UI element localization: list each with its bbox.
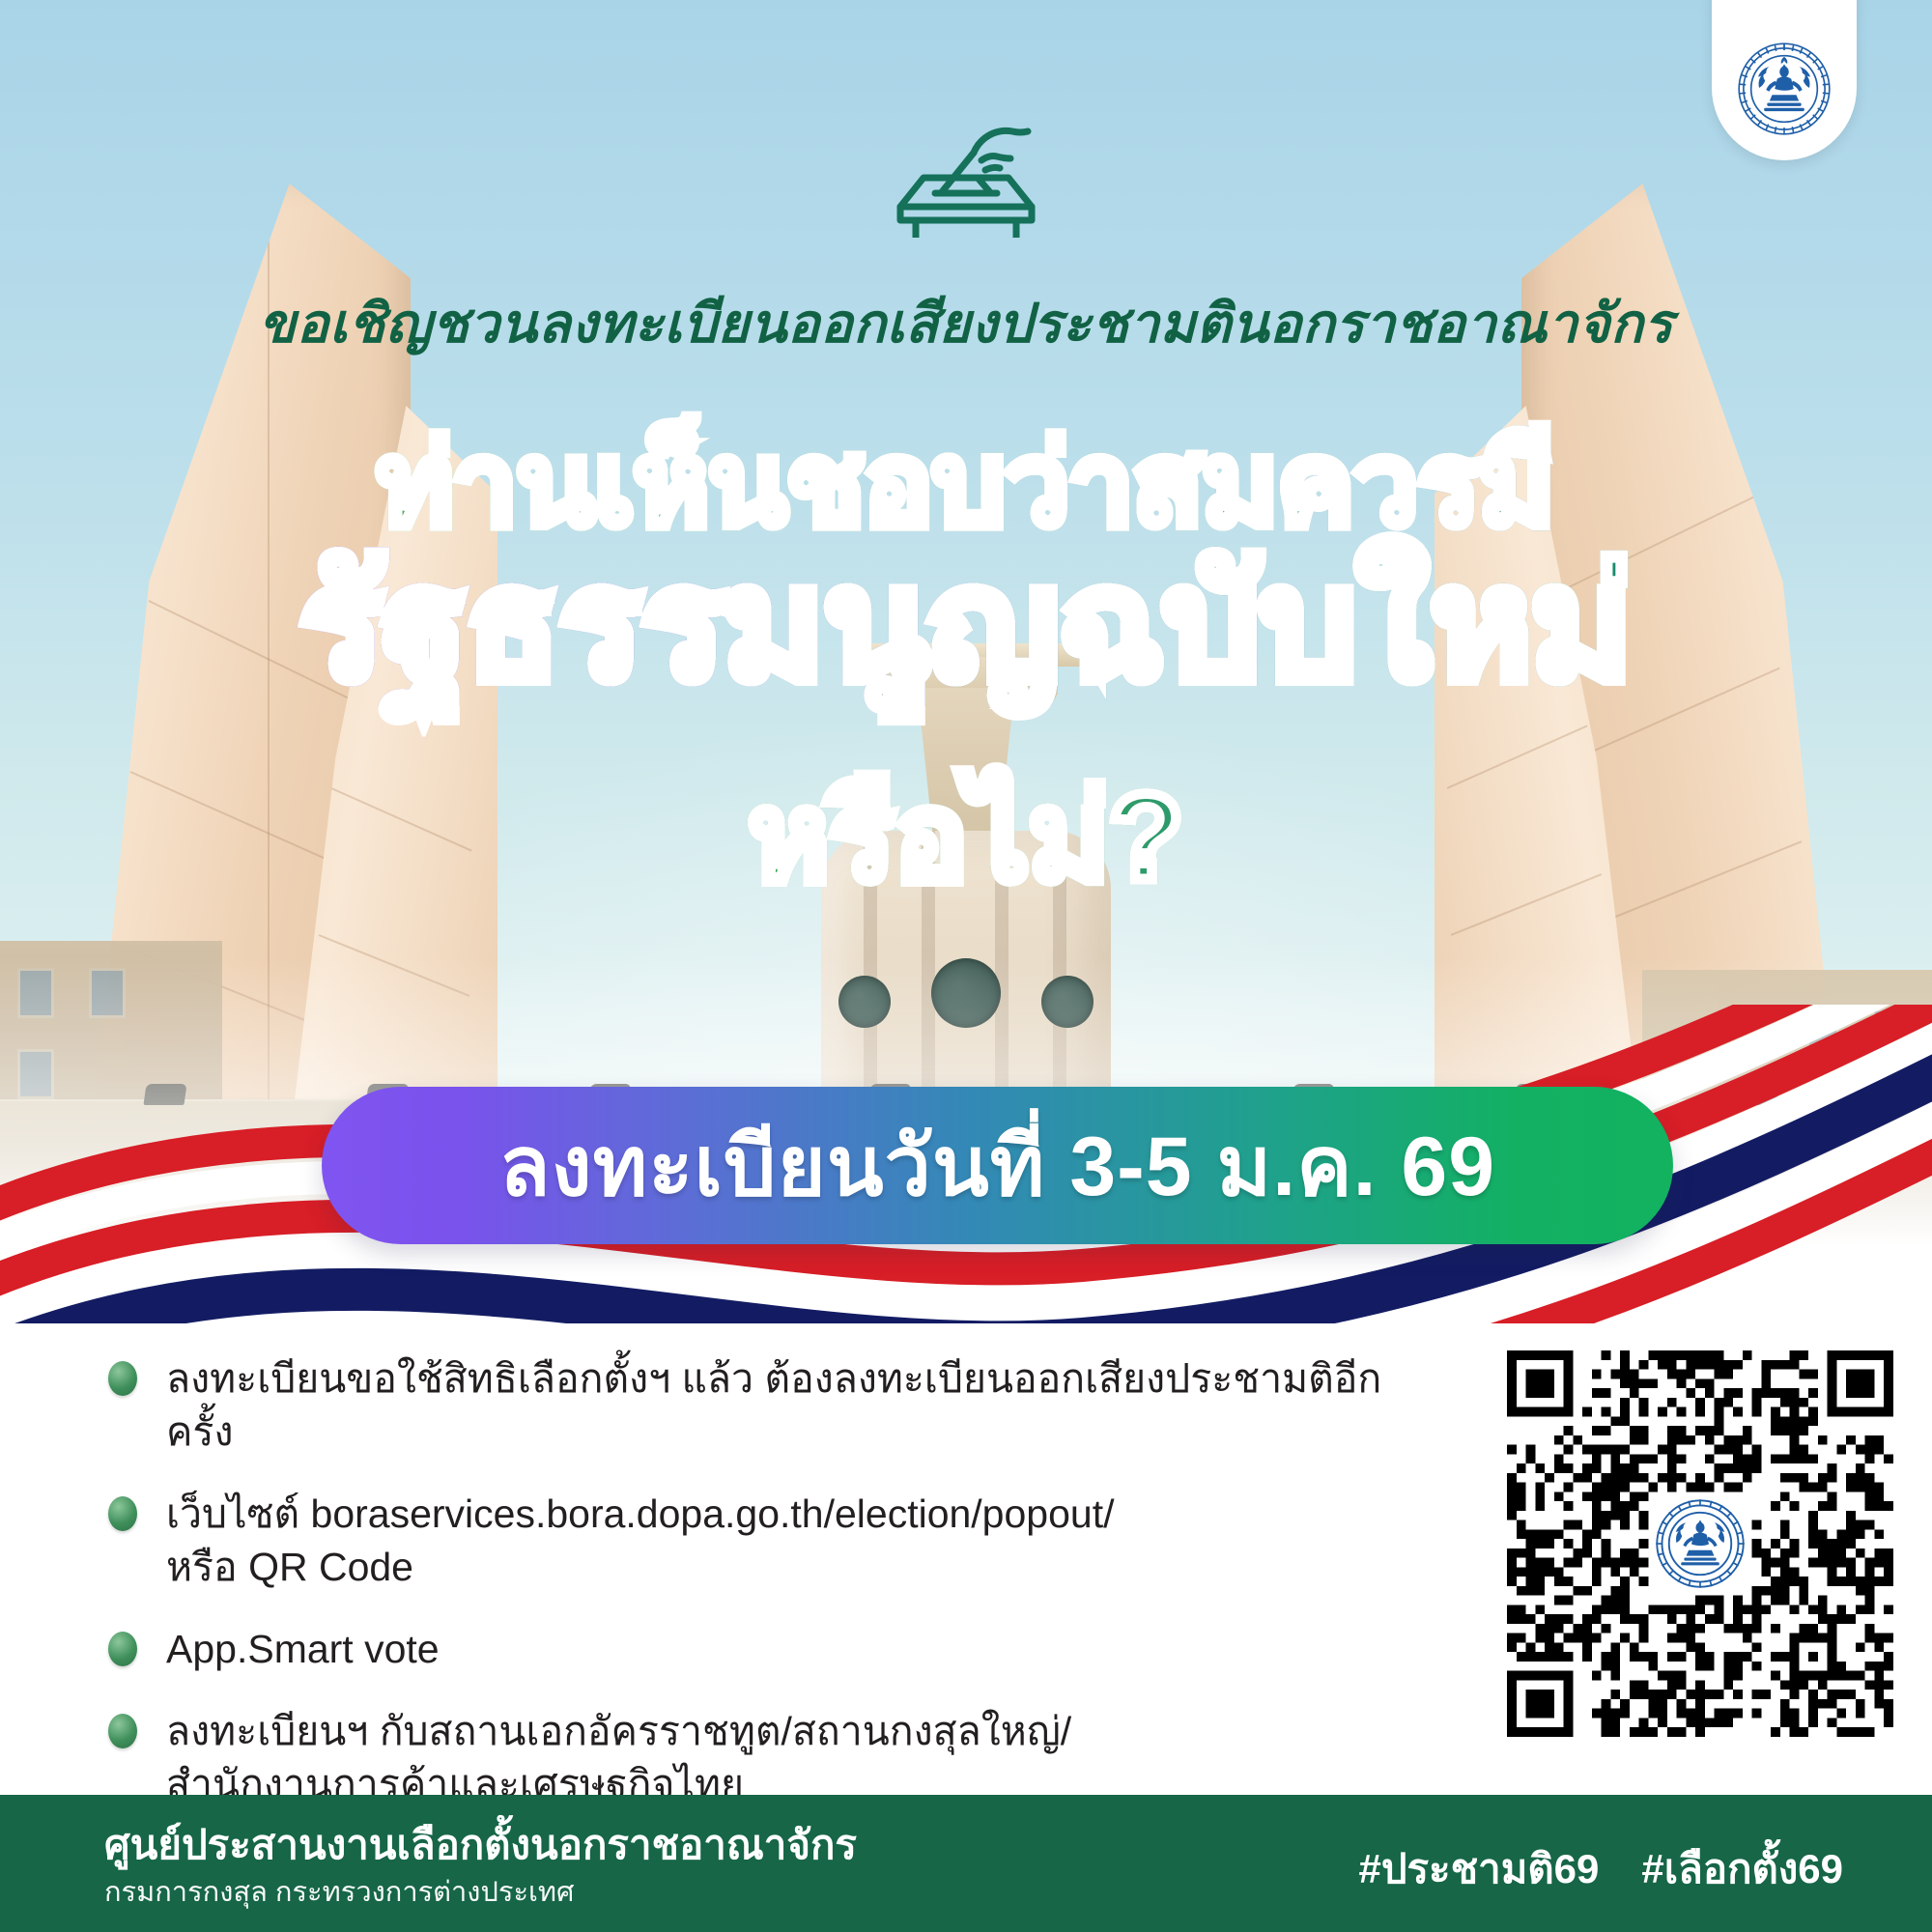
- headline-line-1: ท่านเห็นชอบว่าสมควรมี: [0, 425, 1932, 546]
- bullet-dot-icon: [108, 1632, 137, 1666]
- bullet-dot-icon: [108, 1714, 137, 1748]
- footer-org-dept: กรมการกงสุล กระทรวงการต่างประเทศ: [104, 1876, 857, 1910]
- hashtag-prachamati: #ประชามติ69: [1358, 1837, 1599, 1901]
- kicker-text: ขอเชิญชวนลงทะเบียนออกเสียงประชามตินอกราช…: [0, 280, 1932, 366]
- hashtag-election: #เลือกตั้ง69: [1641, 1837, 1843, 1901]
- info-bullet-list: ลงทะเบียนขอใช้สิทธิเลือกตั้งฯ แล้ว ต้องล…: [108, 1352, 1422, 1840]
- footer-organisation-block: ศูนย์ประสานงานเลือกตั้งนอกราชอาณาจักร กร…: [104, 1822, 857, 1910]
- list-item: ลงทะเบียนขอใช้สิทธิเลือกตั้งฯ แล้ว ต้องล…: [108, 1352, 1422, 1459]
- ministry-emblem-tab: [1712, 0, 1857, 160]
- registration-date-text: ลงทะเบียนวันที่ 3-5 ม.ค. 69: [499, 1099, 1495, 1232]
- headline-line-2: รัฐธรรมนูญฉบับใหม่: [0, 546, 1932, 706]
- qr-code[interactable]: [1507, 1350, 1893, 1737]
- bullet-dot-icon: [108, 1496, 137, 1531]
- list-item: เว็บไซต์ boraservices.bora.dopa.go.th/el…: [108, 1488, 1422, 1594]
- bullet-dot-icon: [108, 1361, 137, 1396]
- footer-hashtags: #ประชามติ69 #เลือกตั้ง69: [1358, 1837, 1843, 1901]
- ballot-box-icon: [881, 124, 1051, 238]
- registration-date-banner: ลงทะเบียนวันที่ 3-5 ม.ค. 69: [322, 1087, 1673, 1244]
- list-item: App.Smart vote: [108, 1623, 1422, 1676]
- list-item-text: ลงทะเบียนขอใช้สิทธิเลือกตั้งฯ แล้ว ต้องล…: [166, 1352, 1422, 1459]
- headline-line-3: หรือไม่?: [0, 773, 1932, 902]
- footer-org-name: ศูนย์ประสานงานเลือกตั้งนอกราชอาณาจักร: [104, 1822, 857, 1867]
- list-item-text[interactable]: เว็บไซต์ boraservices.bora.dopa.go.th/el…: [166, 1488, 1114, 1594]
- footer-bar: ศูนย์ประสานงานเลือกตั้งนอกราชอาณาจักร กร…: [0, 1795, 1932, 1932]
- qr-center-garuda-seal-icon: [1650, 1493, 1750, 1594]
- list-item-text: App.Smart vote: [166, 1623, 440, 1676]
- poster-root: ขอเชิญชวนลงทะเบียนออกเสียงประชามตินอกราช…: [0, 0, 1932, 1932]
- garuda-seal-icon: [1734, 39, 1834, 139]
